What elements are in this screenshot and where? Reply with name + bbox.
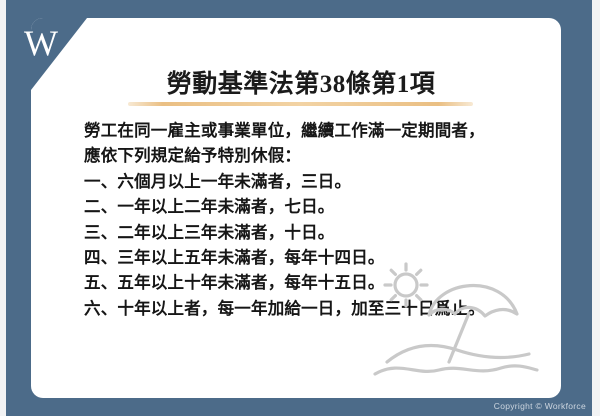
intro-line-2: 應依下列規定給予特別休假： (84, 143, 534, 168)
page-title: 勞動基準法第38條第1項 (91, 64, 511, 100)
workforce-logo: W (24, 17, 80, 69)
clause-item-1: 一、六個月以上一年未滿者，三日。 (84, 169, 534, 194)
waves-icon (375, 346, 537, 374)
clause-item-6: 六、十年以上者，每一年加給一日，加至三十日爲止。 (84, 296, 534, 321)
copyright-text: Copyright © Workforce (494, 401, 586, 411)
clause-item-3: 三、二年以上三年未滿者，十日。 (84, 220, 534, 245)
intro-line-1: 勞工在同一雇主或事業單位，繼續工作滿一定期間者， (84, 118, 534, 143)
logo-letter: W (24, 23, 58, 63)
clause-item-2: 二、一年以上二年未滿者，七日。 (84, 194, 534, 219)
clause-item-5: 五、五年以上十年未滿者，每年十五日。 (84, 270, 534, 295)
title-divider (128, 102, 473, 106)
content-card: 勞動基準法第38條第1項 勞工在同一雇主或事業單位，繼續工作滿一定期間者， 應依… (31, 18, 561, 398)
article-body: 勞工在同一雇主或事業單位，繼續工作滿一定期間者， 應依下列規定給予特別休假： 一… (84, 118, 534, 321)
clause-item-4: 四、三年以上五年未滿者，每年十四日。 (84, 245, 534, 270)
slide-screen: 勞動基準法第38條第1項 勞工在同一雇主或事業單位，繼續工作滿一定期間者， 應依… (0, 0, 600, 416)
